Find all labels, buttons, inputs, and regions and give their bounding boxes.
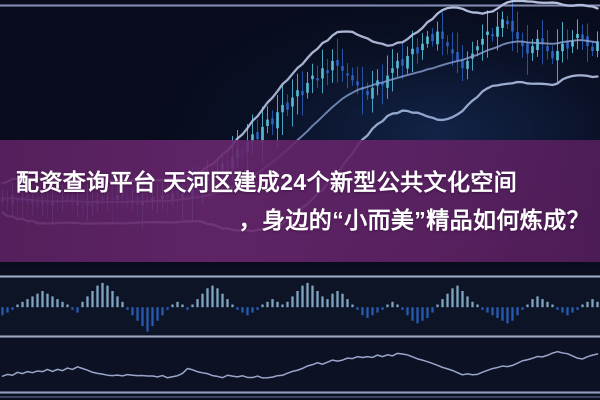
divider-footer (0, 396, 600, 398)
macd-histogram-panel (0, 276, 600, 336)
momentum-indicator-chart (0, 338, 600, 394)
headline-line-2: ，身边的“小而美”精品如何炼成？ (239, 201, 590, 239)
macd-histogram-chart (0, 276, 600, 336)
momentum-indicator-panel (0, 338, 600, 394)
article-cover-image: 配资查询平台 天河区建成24个新型公共文化空间 ，身边的“小而美”精品如何炼成？ (0, 0, 600, 400)
headline-text-container: 配资查询平台 天河区建成24个新型公共文化空间 ，身边的“小而美”精品如何炼成？ (0, 140, 600, 262)
headline-line-1: 配资查询平台 天河区建成24个新型公共文化空间 (14, 163, 517, 201)
